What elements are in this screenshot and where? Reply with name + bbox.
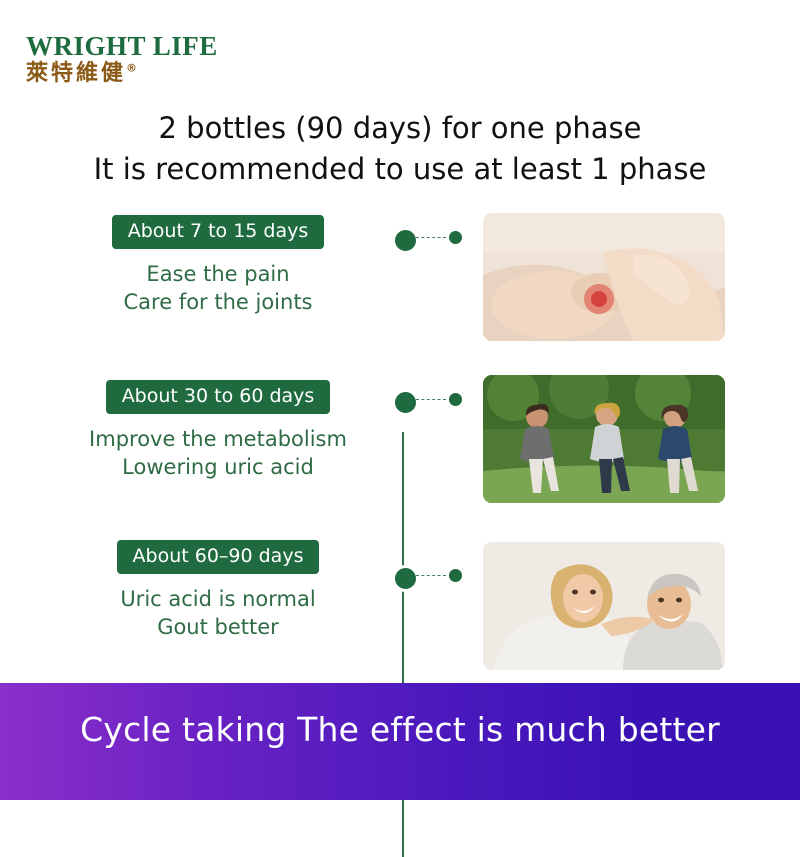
photo-people-jogging bbox=[483, 375, 725, 503]
step-3-description: Uric acid is normal Gout better bbox=[68, 586, 368, 641]
headline-line-1: 2 bottles (90 days) for one phase bbox=[159, 111, 642, 145]
step-2-node-dot bbox=[392, 389, 419, 416]
brand-logo: WRIGHT LIFE 萊特維健® bbox=[26, 32, 226, 88]
step-3-desc-line-2: Gout better bbox=[68, 614, 368, 642]
step-3-marker-dot bbox=[449, 569, 462, 582]
step-3-text: About 60–90 days Uric acid is normal Gou… bbox=[68, 540, 368, 641]
banner-text: Cycle taking The effect is much better bbox=[0, 710, 800, 749]
step-1-desc-line-1: Ease the pain bbox=[68, 261, 368, 289]
step-1-badge: About 7 to 15 days bbox=[112, 215, 325, 249]
step-2-connector-dash bbox=[416, 399, 446, 400]
step-2-desc-line-2: Lowering uric acid bbox=[68, 454, 368, 482]
step-2-text: About 30 to 60 days Improve the metaboli… bbox=[68, 380, 368, 481]
step-1-marker-dot bbox=[449, 231, 462, 244]
step-3-node-dot bbox=[392, 565, 419, 592]
step-3: About 60–90 days Uric acid is normal Gou… bbox=[0, 540, 800, 690]
headline-line-2: It is recommended to use at least 1 phas… bbox=[0, 149, 800, 190]
photo-foot-pain bbox=[483, 213, 725, 341]
step-2-description: Improve the metabolism Lowering uric aci… bbox=[68, 426, 368, 481]
brand-name-cn: 萊特維健® bbox=[26, 61, 226, 87]
step-1: About 7 to 15 days Ease the pain Care fo… bbox=[0, 215, 800, 365]
step-1-connector-dash bbox=[416, 237, 446, 238]
step-3-badge: About 60–90 days bbox=[117, 540, 320, 574]
step-2-badge: About 30 to 60 days bbox=[106, 380, 331, 414]
timeline-steps: About 7 to 15 days Ease the pain Care fo… bbox=[0, 210, 800, 680]
step-1-text: About 7 to 15 days Ease the pain Care fo… bbox=[68, 215, 368, 316]
brand-name-en: WRIGHT LIFE bbox=[26, 32, 226, 60]
step-3-connector-dash bbox=[416, 575, 446, 576]
step-2: About 30 to 60 days Improve the metaboli… bbox=[0, 380, 800, 530]
step-1-desc-line-2: Care for the joints bbox=[68, 289, 368, 317]
step-3-desc-line-1: Uric acid is normal bbox=[68, 586, 368, 614]
promo-page: WRIGHT LIFE 萊特維健® 2 bottles (90 days) fo… bbox=[0, 0, 800, 800]
registered-mark-icon: ® bbox=[126, 62, 140, 75]
step-1-description: Ease the pain Care for the joints bbox=[68, 261, 368, 316]
bottom-banner: Cycle taking The effect is much better bbox=[0, 683, 800, 800]
headline: 2 bottles (90 days) for one phase It is … bbox=[0, 108, 800, 190]
step-1-node-dot bbox=[392, 227, 419, 254]
step-2-marker-dot bbox=[449, 393, 462, 406]
brand-name-cn-text: 萊特維健 bbox=[26, 61, 126, 86]
step-2-desc-line-1: Improve the metabolism bbox=[68, 426, 368, 454]
photo-happy-couple bbox=[483, 542, 725, 670]
